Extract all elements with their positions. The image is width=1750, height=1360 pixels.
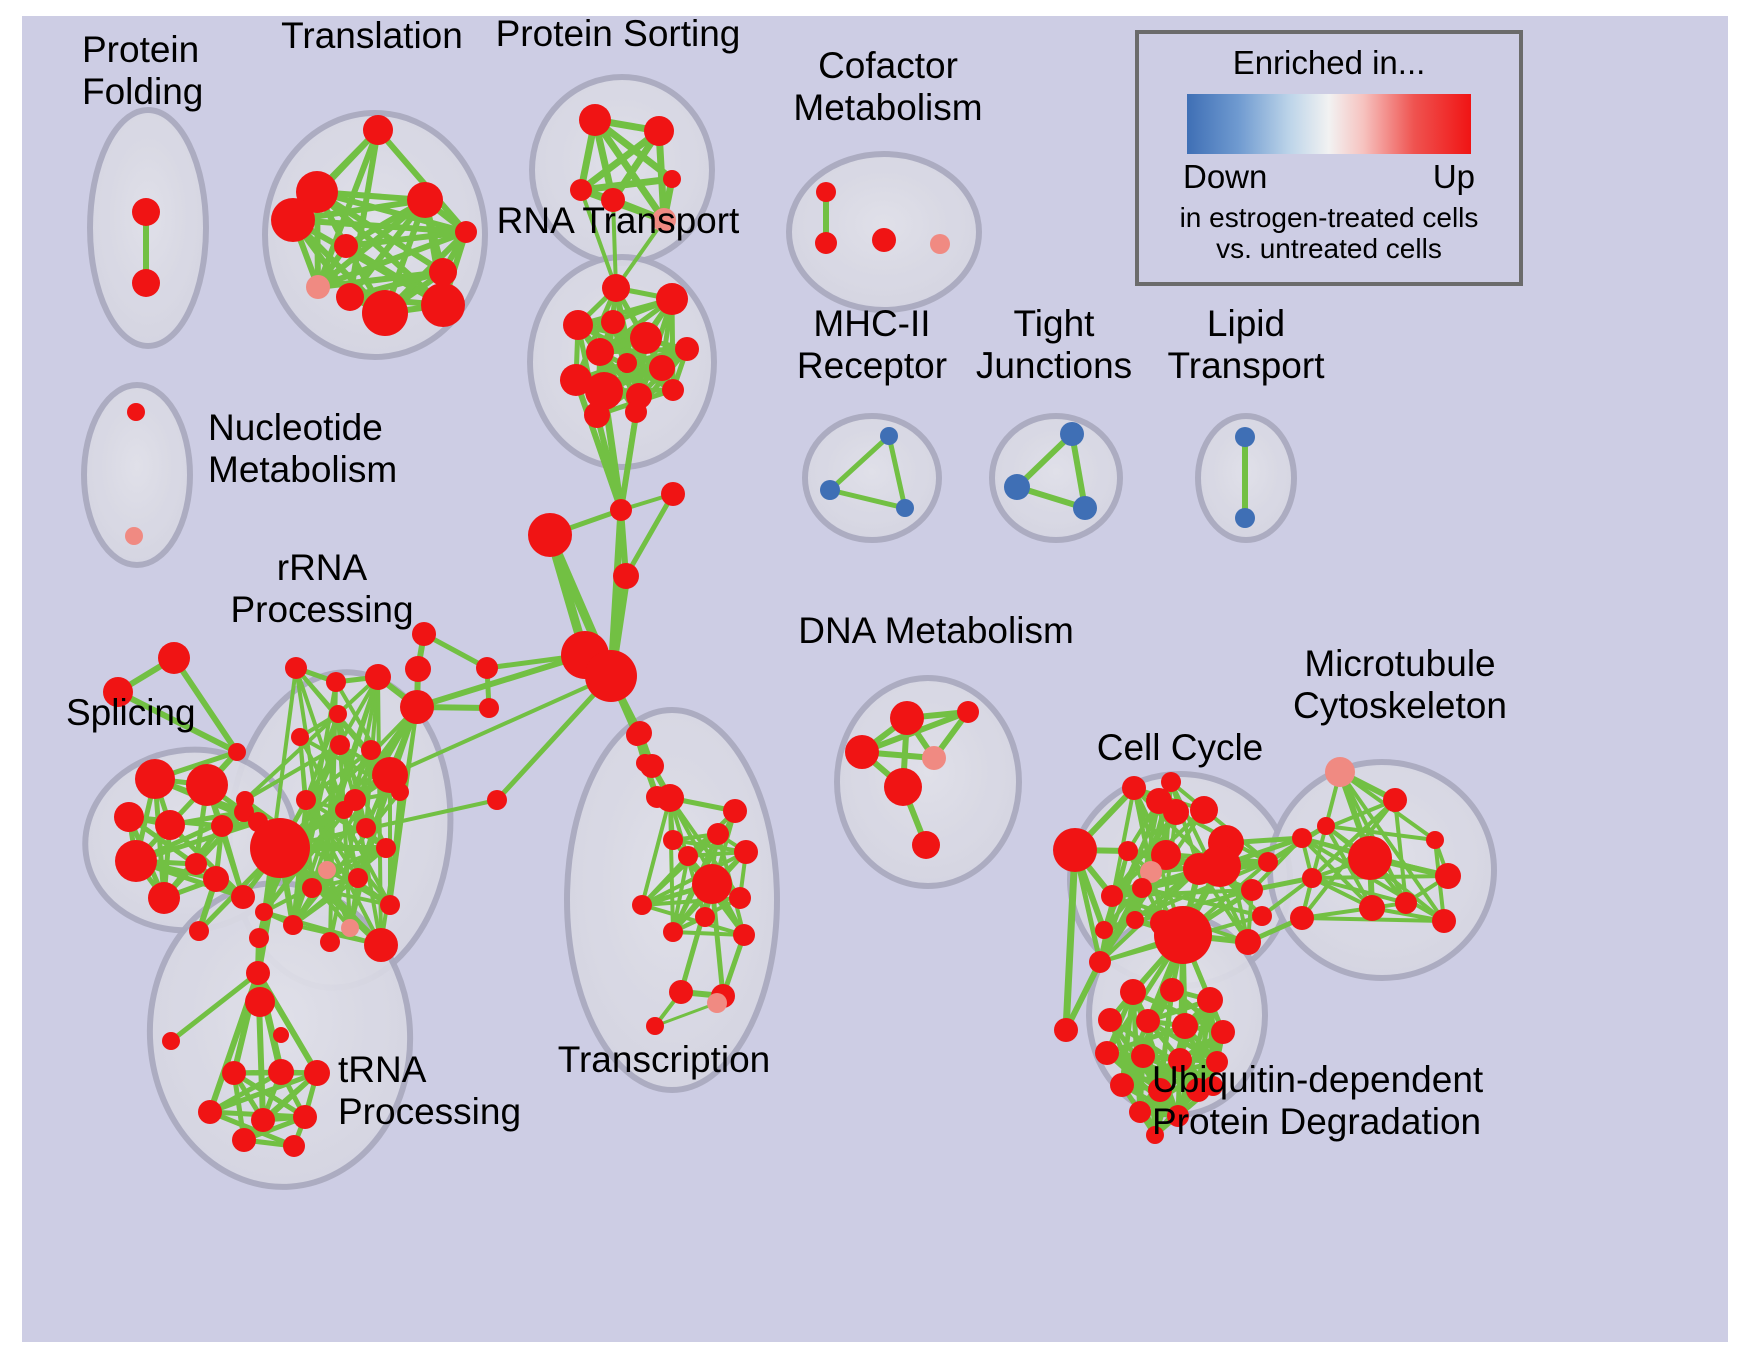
network-node [669, 980, 693, 1004]
network-node [563, 310, 593, 340]
legend-box: Enriched in... Down Up in estrogen-treat… [1135, 30, 1523, 286]
network-node [228, 743, 246, 761]
network-node [455, 221, 477, 243]
network-node [304, 1060, 330, 1086]
network-node [231, 885, 255, 909]
network-node [249, 928, 269, 948]
legend-low-label: Down [1183, 158, 1267, 196]
network-node [640, 754, 664, 778]
cluster-label-rrna-processing: rRNAProcessing [230, 547, 413, 630]
network-node [186, 764, 228, 806]
network-node [880, 427, 898, 445]
cluster-label-mhc-ii-receptor: MHC-IIReceptor [797, 303, 947, 386]
network-node [1129, 1101, 1151, 1123]
network-node [678, 846, 698, 866]
network-node [663, 830, 683, 850]
network-node [246, 961, 270, 985]
network-node [912, 831, 940, 859]
network-node [663, 170, 681, 188]
legend-gradient-bar [1187, 94, 1471, 154]
network-node [1235, 427, 1255, 447]
legend-high-label: Up [1433, 158, 1475, 196]
network-node [185, 853, 207, 875]
network-node [617, 353, 637, 373]
network-node [729, 887, 751, 909]
network-node [132, 198, 160, 226]
network-node [271, 198, 315, 242]
figure-canvas: ProteinFoldingTranslationProtein Sorting… [0, 0, 1750, 1360]
cluster-label-trna-processing: tRNAProcessing [338, 1049, 521, 1132]
network-node [362, 290, 408, 336]
network-node [361, 740, 381, 760]
network-node [400, 690, 434, 724]
network-node [528, 513, 572, 557]
network-node [222, 1061, 246, 1085]
network-node [707, 993, 727, 1013]
network-node [198, 1100, 222, 1124]
network-node [675, 337, 699, 361]
network-node [302, 878, 322, 898]
network-node [1383, 788, 1407, 812]
network-node [1235, 508, 1255, 528]
network-node [692, 864, 732, 904]
network-node [646, 1017, 664, 1035]
network-node [734, 840, 758, 864]
network-node [922, 746, 946, 770]
network-node [232, 1128, 256, 1152]
network-node [429, 258, 457, 286]
network-node [1154, 906, 1212, 964]
network-node [329, 705, 347, 723]
network-node [476, 657, 498, 679]
cluster-hull-mhc-ii-receptor [805, 416, 939, 540]
network-node [628, 721, 652, 745]
network-node [649, 355, 675, 381]
network-node [1060, 422, 1084, 446]
network-node [335, 801, 353, 819]
network-node [293, 1105, 317, 1129]
network-node [336, 283, 364, 311]
network-node [1136, 1009, 1160, 1033]
network-node [1302, 868, 1322, 888]
network-node [1160, 978, 1184, 1002]
network-node [1101, 885, 1123, 907]
network-node [610, 499, 632, 521]
network-node [586, 338, 614, 366]
legend-title: Enriched in... [1139, 44, 1519, 82]
network-node [1172, 1013, 1198, 1039]
network-node [391, 783, 409, 801]
network-node [162, 1032, 180, 1050]
network-node [251, 1108, 275, 1132]
cluster-label-lipid-transport: LipidTransport [1168, 303, 1326, 386]
network-node [656, 283, 688, 315]
network-node [570, 179, 592, 201]
network-node [115, 840, 157, 882]
network-node [579, 104, 611, 136]
network-node [189, 921, 209, 941]
network-node [148, 882, 180, 914]
network-node [1053, 828, 1097, 872]
network-node [723, 799, 747, 823]
network-node [733, 924, 755, 946]
cluster-label-cofactor-metabolism: CofactorMetabolism [793, 45, 982, 128]
cluster-label-transcription: Transcription [558, 1039, 770, 1080]
network-node [584, 402, 610, 428]
network-node [1190, 796, 1218, 824]
legend-caption-line-1: in estrogen-treated cells [1139, 202, 1519, 233]
network-node [1359, 895, 1385, 921]
network-node [890, 701, 924, 735]
network-node [330, 735, 350, 755]
network-node [1098, 1008, 1122, 1032]
network-node [380, 895, 400, 915]
network-node [365, 664, 391, 690]
network-node [306, 275, 330, 299]
network-node [1348, 836, 1392, 880]
network-node [296, 790, 316, 810]
network-node [663, 922, 683, 942]
network-node [632, 895, 652, 915]
network-node [132, 269, 160, 297]
network-node [613, 563, 639, 589]
network-node [1118, 841, 1138, 861]
network-node [255, 903, 273, 921]
network-node [872, 228, 896, 252]
network-node [421, 283, 465, 327]
network-node [1235, 929, 1261, 955]
network-node [283, 915, 303, 935]
network-node [236, 791, 254, 809]
network-node [320, 932, 340, 952]
network-node [291, 728, 309, 746]
cluster-label-splicing: Splicing [66, 692, 196, 733]
network-node [585, 650, 637, 702]
network-node [1395, 892, 1417, 914]
cluster-label-protein-folding: ProteinFolding [82, 29, 203, 112]
network-node [707, 823, 729, 845]
network-node [341, 919, 359, 937]
network-node [1163, 799, 1189, 825]
cluster-label-ubiquitin-degradation: Ubiquitin-dependentProtein Degradation [1152, 1059, 1484, 1142]
network-node [1211, 1020, 1235, 1044]
network-node [487, 790, 507, 810]
network-node [884, 768, 922, 806]
network-node [155, 810, 185, 840]
cluster-label-cell-cycle: Cell Cycle [1097, 727, 1264, 768]
network-node [1426, 831, 1444, 849]
network-node [158, 642, 190, 674]
network-node [1095, 1041, 1119, 1065]
network-node [1095, 921, 1113, 939]
network-node [203, 866, 229, 892]
network-node [630, 322, 662, 354]
network-node [1290, 906, 1314, 930]
network-node [348, 868, 368, 888]
cluster-label-microtubule-cytoskeleton: MicrotubuleCytoskeleton [1293, 643, 1507, 726]
network-node [135, 759, 175, 799]
network-node [1252, 906, 1272, 926]
network-node [601, 310, 625, 334]
network-node [1073, 496, 1097, 520]
network-node [602, 274, 630, 302]
network-node [1120, 979, 1146, 1005]
network-node [816, 182, 836, 202]
network-node [930, 234, 950, 254]
network-node [1325, 757, 1355, 787]
network-node [644, 116, 674, 146]
cluster-label-rna-transport: RNA Transport [497, 200, 740, 241]
network-node [407, 182, 443, 218]
network-node [283, 1135, 305, 1157]
network-node [1004, 474, 1030, 500]
network-node [1126, 911, 1144, 929]
cluster-label-dna-metabolism: DNA Metabolism [798, 610, 1074, 651]
network-node [1258, 852, 1278, 872]
network-node [845, 735, 879, 769]
network-node [412, 622, 436, 646]
network-node [1122, 776, 1146, 800]
legend-caption-line-2: vs. untreated cells [1139, 233, 1519, 264]
network-node [1110, 1073, 1134, 1097]
network-node [326, 672, 346, 692]
network-node [479, 698, 499, 718]
network-node [334, 234, 358, 258]
network-node [356, 818, 376, 838]
network-node [625, 401, 647, 423]
network-node [250, 818, 310, 878]
network-node [318, 861, 336, 879]
network-node [376, 838, 396, 858]
network-node [1089, 951, 1111, 973]
cluster-label-tight-junctions: TightJunctions [976, 303, 1132, 386]
network-node [1317, 817, 1335, 835]
network-node [1199, 845, 1241, 887]
network-node [815, 232, 837, 254]
network-node [245, 987, 275, 1017]
network-node [285, 657, 307, 679]
network-node [273, 1027, 289, 1043]
network-node [1054, 1018, 1078, 1042]
network-node [363, 115, 393, 145]
network-node [896, 499, 914, 517]
cluster-label-nucleotide-metabolism: NucleotideMetabolism [208, 407, 397, 490]
network-node [1241, 879, 1263, 901]
network-node [661, 482, 685, 506]
network-node [662, 379, 684, 401]
network-node [820, 480, 840, 500]
network-node [1435, 863, 1461, 889]
network-node [1292, 828, 1312, 848]
network-node [405, 656, 431, 682]
network-node [957, 701, 979, 723]
cluster-label-protein-sorting: Protein Sorting [496, 13, 741, 54]
network-node [211, 815, 233, 837]
network-node [1132, 878, 1152, 898]
network-node [695, 907, 715, 927]
network-node [125, 527, 143, 545]
network-node [268, 1059, 294, 1085]
cluster-label-translation: Translation [281, 15, 463, 56]
network-node [114, 802, 144, 832]
network-node [1197, 987, 1223, 1013]
network-node [127, 403, 145, 421]
network-node [656, 784, 684, 812]
network-node [364, 928, 398, 962]
network-node [1432, 909, 1456, 933]
